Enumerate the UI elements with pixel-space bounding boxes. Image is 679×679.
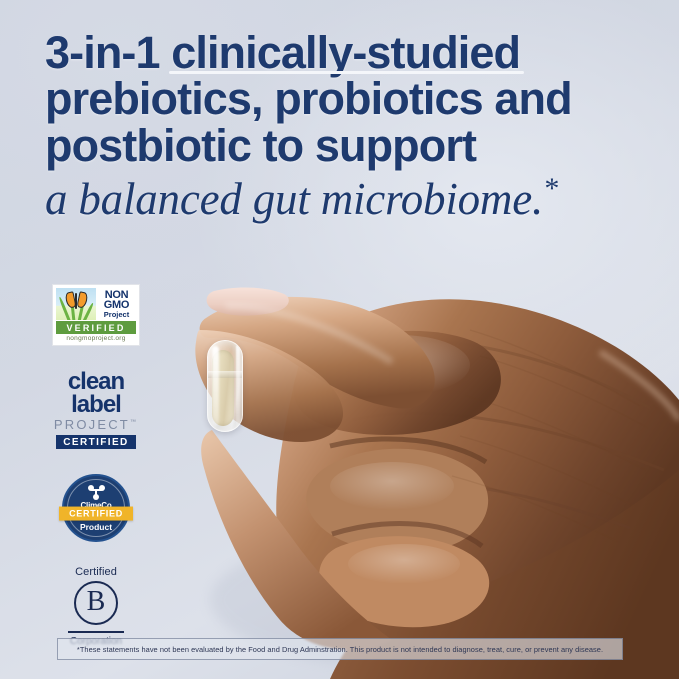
certification-badge-column: NON GMO Project VERIFIED nongmoproject.o… [36,284,156,647]
non-gmo-word-project: Project [104,311,129,318]
clean-label-word-label: label [46,393,146,416]
headline-line-2: prebiotics, probiotics and [45,76,645,122]
climeco-product-label: Product [64,522,128,532]
headline-line-4: a balanced gut microbiome.* [45,174,645,222]
butterfly-icon [66,292,87,311]
butterfly-grass-icon [56,288,96,320]
badge-non-gmo-project-verified: NON GMO Project VERIFIED nongmoproject.o… [52,284,140,346]
clean-label-project-text: PROJECT [54,417,130,432]
headline-line-1: 3-in-1 clinically-studied [45,30,645,76]
climeco-logo-icon [88,485,105,500]
climeco-certified-ribbon: CERTIFIED [59,506,133,521]
non-gmo-upper: NON GMO Project [56,288,136,320]
badge-climeco-certified-product: ClimeCo CERTIFIED Product [62,474,130,542]
clean-label-certified-chip: CERTIFIED [56,435,135,450]
badge-certified-b-corporation: Certified B Corporation [55,566,137,647]
fda-disclaimer: *These statements have not been evaluate… [57,638,623,660]
trademark-symbol: ™ [130,419,138,425]
bcorp-rule [68,631,124,633]
clean-label-word-clean: clean [46,370,146,393]
non-gmo-url: nongmoproject.org [56,334,136,343]
clean-label-word-project: PROJECT™ [46,417,146,432]
non-gmo-wordmark: NON GMO Project [96,288,136,320]
dietary-supplement-capsule [207,340,243,432]
headline-underlined-phrase: clinically-studied [171,30,520,76]
product-marketing-image: 3-in-1 clinically-studied prebiotics, pr… [0,0,679,679]
headline-line-3: postbiotic to support [45,123,645,169]
headline-asterisk: * [543,172,558,205]
headline-prefix: 3-in-1 [45,27,171,78]
capsule-gloss-highlight [212,346,219,426]
capsule-edge-highlight [236,345,240,429]
page-title: 3-in-1 clinically-studied prebiotics, pr… [45,30,645,222]
headline-serif-text: a balanced gut microbiome. [45,174,543,224]
non-gmo-verified-bar: VERIFIED [56,321,136,334]
bcorp-b-icon: B [74,581,118,625]
badge-clean-label-project: clean label PROJECT™ CERTIFIED [46,370,146,450]
bcorp-certified-text: Certified [55,566,137,578]
